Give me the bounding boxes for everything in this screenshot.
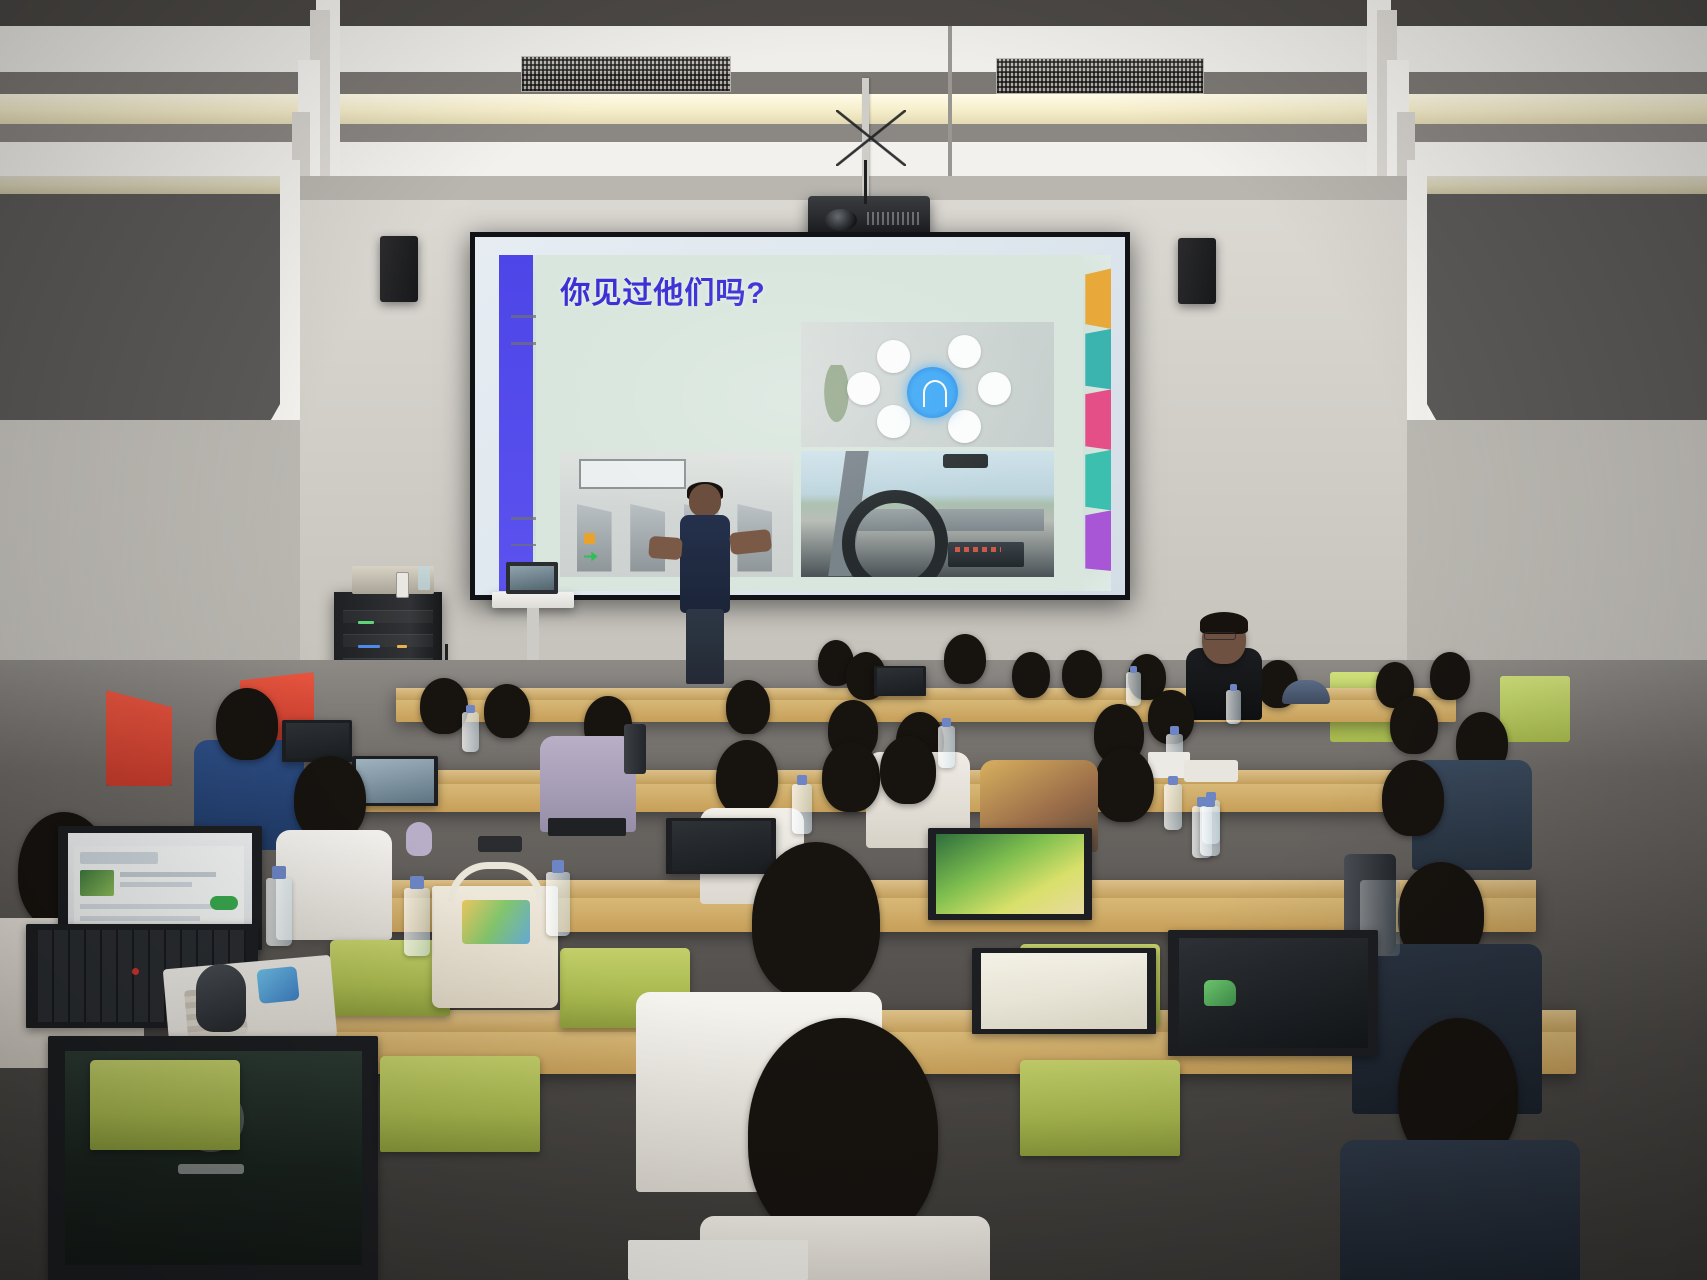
slide-left-accent-bar [499,255,533,591]
foreground-laptop-center [972,948,1156,1034]
gate-indicator-1 [584,533,596,544]
slide-photo-autonomous-driving [801,451,1054,576]
audience-laptop-r2-1 [282,720,352,762]
observer-glasses-icon [1204,632,1236,640]
foreground-bottle-3 [546,872,570,936]
rear-view-mirror [943,454,989,468]
audience-bottle-r2-2 [938,726,955,768]
rack-slot-1 [343,610,434,623]
rack-slot-2 [343,634,434,647]
ceiling-vent-right [996,58,1204,94]
laptop-page-header [80,852,158,864]
wall-speaker-right [1178,238,1216,304]
strip-seg-5 [1085,510,1111,570]
projector-vent-strip [867,212,921,226]
lectern [492,592,574,608]
bottle-cap [466,705,475,713]
iot-node-phone-icon [978,372,1011,405]
laptop-lid [936,834,1084,915]
presenter-legs [686,609,724,683]
projection-screen-surface: 你见过他们吗? 小爱同学 语音识别 人工智 [475,237,1125,595]
audience-bottle-r1-1 [1126,672,1141,706]
rack-led-green [358,621,374,624]
laptop-lid [981,953,1147,1029]
laptop-page-badge [210,896,238,910]
foreground-bottle-1 [266,878,292,946]
iot-node-laptop-icon [877,405,910,438]
audience-power-strip [548,818,626,836]
audience-head-r3-3 [822,742,880,812]
presenter-torso [680,515,730,613]
projected-slide: 你见过他们吗? 小爱同学 语音识别 人工智 [499,255,1111,591]
audience-thermos-r2 [624,724,646,774]
audience-head-r3-6 [1382,760,1444,836]
projector-cable [864,160,867,204]
strip-seg-4 [1085,450,1111,510]
audience-laptop-r1-1 [874,666,926,696]
slide-photo-smart-home-iot [801,322,1054,447]
strip-seg-1 [1085,268,1111,328]
presenter-left-arm [648,536,682,560]
audience-head-r2-4 [726,680,770,734]
audience-head-r2-9 [1390,696,1438,754]
audience-bottle-r3-3 [1164,784,1182,830]
laptop-page-line-2 [120,882,192,887]
audience-head-foreground-center [748,1018,938,1248]
laptop-page-line-1 [120,872,216,877]
wall-speaker-left [380,236,418,302]
foreground-bottle-4 [1200,806,1220,856]
iot-wifi-hub-icon [907,367,958,418]
foreground-bottle-2 [404,888,430,956]
lecture-hall-photo: 你见过他们吗? 小爱同学 语音识别 人工智 [0,0,1707,1280]
tote-bag-print [462,900,530,944]
bottle-cap [1130,666,1138,673]
strip-seg-3 [1085,389,1111,449]
bottle-cap [272,866,286,880]
lectern-laptop-screen [510,566,554,590]
seat-back-foreground-2 [380,1056,540,1152]
login-name-bar [178,1164,244,1174]
audience-bottle-r2-1 [462,712,479,752]
slide-title: 你见过他们吗? [560,268,765,312]
slide-body: 你见过他们吗? 小爱同学 语音识别 人工智 [536,255,1084,591]
iot-node-appliance-icon [877,340,910,373]
audience-head-r1-3 [944,634,986,684]
laptop-lid [356,759,433,803]
audience-bottle-r3-1 [792,784,812,834]
audience-head-r2-a [216,688,278,760]
bottle-cap [797,775,807,785]
audience-laptop-r3-1 [666,818,776,874]
audience-head-r1-5 [1062,650,1102,698]
audience-bottle-r1-2 [1226,690,1241,724]
rack-led-amber [397,645,407,648]
presenter [668,484,742,680]
projector-lens [825,209,857,231]
slide-color-strip [1085,268,1111,570]
audience-head-r1-4 [1012,652,1050,698]
seat-back-foreground-1 [90,1060,240,1150]
desk-paper [628,1240,808,1280]
audience-head-r3-2 [716,740,778,816]
ceiling-seam [948,26,952,176]
bottle-cap [1205,797,1215,807]
audience-head-r2-1 [420,678,468,734]
audience-lunchbox [1184,760,1238,782]
right-wall-green-panel-2 [1500,676,1570,742]
ceiling-vent-left [521,56,731,92]
laptop-lid [877,668,924,694]
laptop-page-line-4 [80,916,200,921]
iot-node-lamp-icon [948,335,981,368]
rack-led-blue [358,645,380,648]
bottle-cap [1168,776,1177,785]
audience-laptop-r3-big [928,828,1092,920]
laptop-page-thumb [80,870,114,896]
laptop-lid [672,821,771,870]
laptop-page-line-3 [80,904,230,909]
laptop-sticker-dino-icon [1204,980,1236,1006]
av-rack-bottle [418,566,430,590]
mousepad-sticker-1 [256,966,299,1004]
presenter-right-arm [729,529,772,555]
bottle-cap [1230,684,1238,691]
car-dashboard-display [948,542,1024,567]
iot-node-ac-icon [948,410,981,443]
audience-head-r2-2 [484,684,530,738]
audience-head-r3-5 [1094,748,1154,822]
observer-hair [1200,612,1248,634]
audience-mouse [406,822,432,856]
slide-photo-grid: 小爱同学 语音识别 人工智能 [560,322,1056,577]
thinkpad-trackpoint-icon [132,968,139,975]
bottle-cap [1170,726,1179,734]
audience-body-r3-1 [276,830,392,940]
bottle-cap [552,860,565,873]
bottle-cap [410,876,424,890]
projector-antenna-bundle [836,110,906,166]
projection-screen-frame: 你见过他们吗? 小爱同学 语音识别 人工智 [470,232,1130,600]
presenter-head [689,484,722,517]
seat-back-foreground-3 [1020,1060,1180,1156]
audience-pencil-case [478,836,522,852]
laptop-lid [286,723,349,760]
bottle-cap [942,718,951,726]
audience-body-r4-right [1340,1140,1580,1280]
iot-node-tablet-icon [847,372,880,405]
audience-head-r4-2 [752,842,880,1000]
audience-head-r3-4 [880,736,936,804]
strip-seg-2 [1085,329,1111,389]
foreground-laptop-right [1168,930,1378,1056]
audience-head-r1-9 [1430,652,1470,700]
av-rack-remote [396,572,409,598]
mouse-foreground [196,964,246,1032]
